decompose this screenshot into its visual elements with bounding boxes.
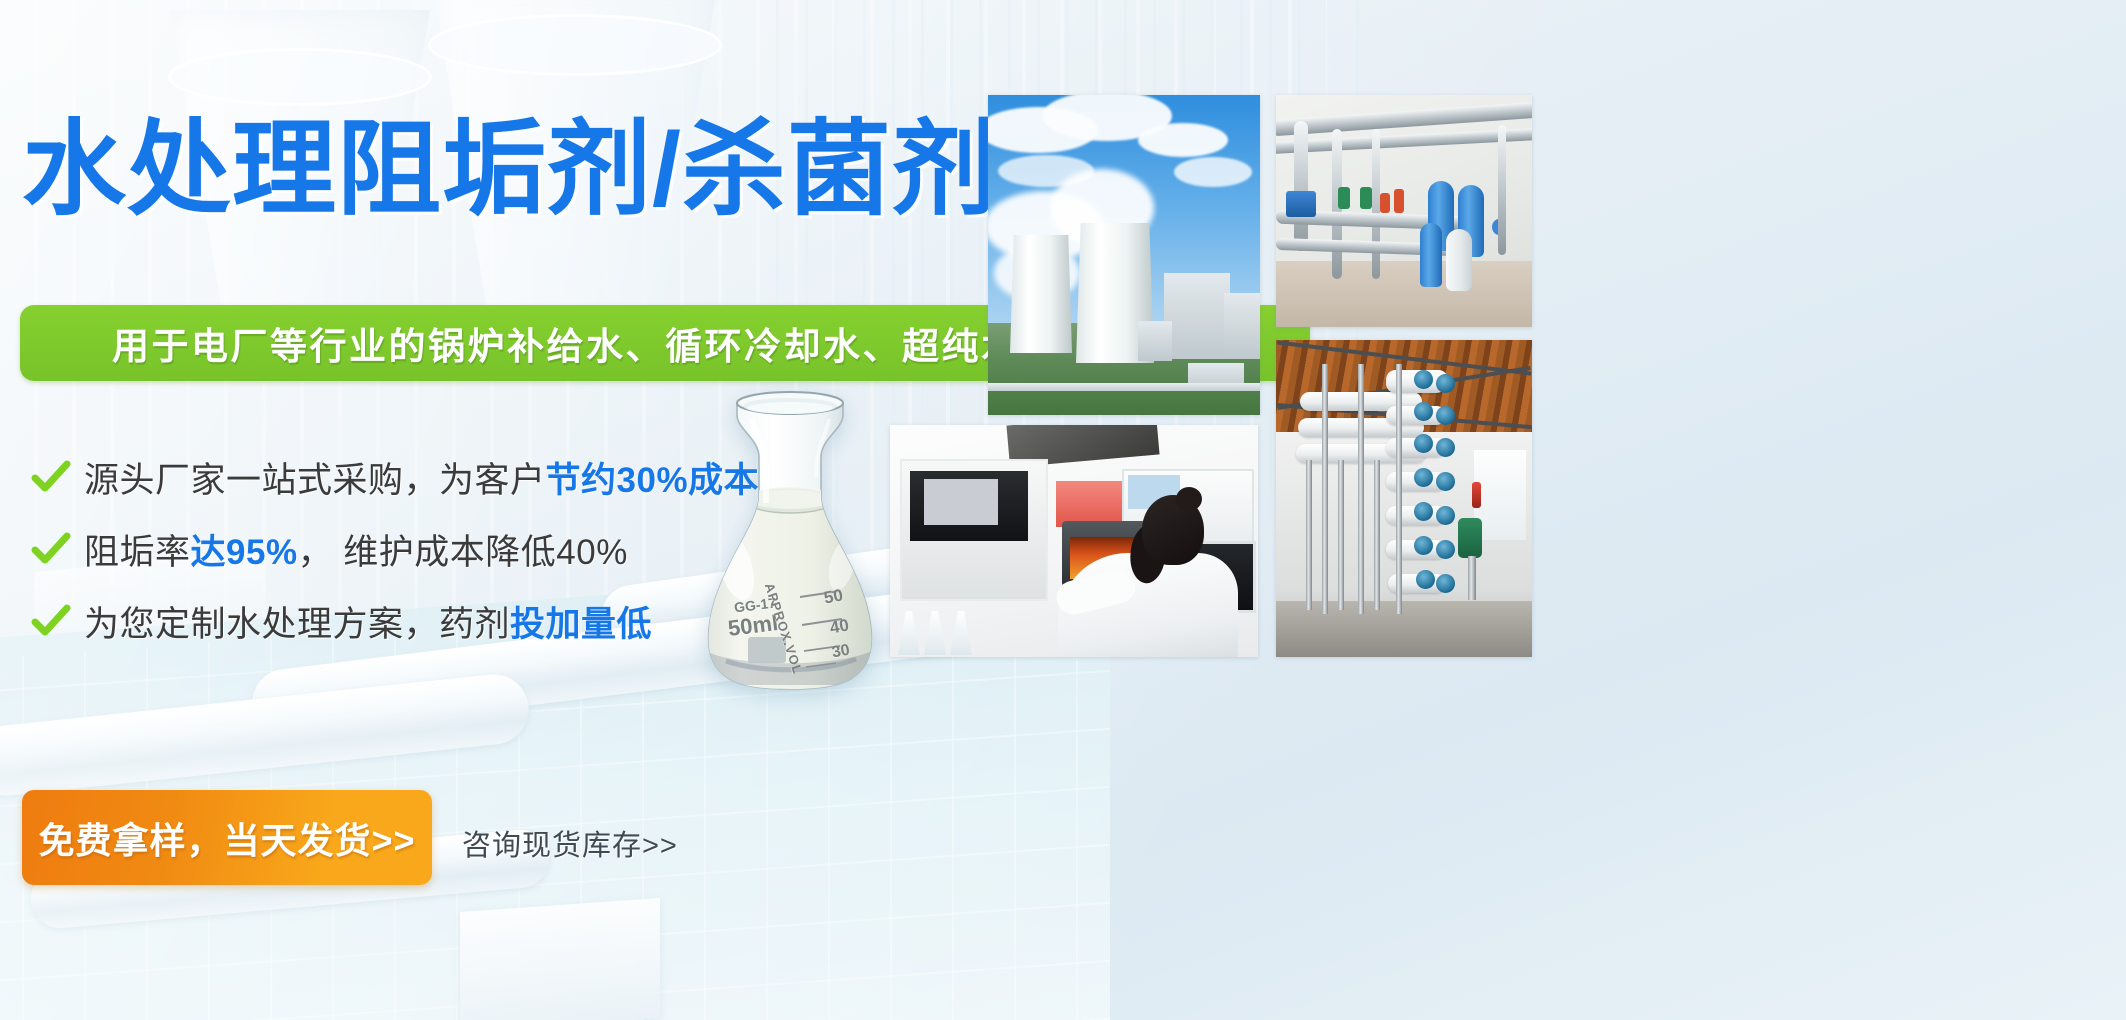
benefit-text-after: ， 维护成本降低40% — [298, 533, 628, 572]
list-item: 源头厂家一站式采购，为客户节约30%成本 — [30, 455, 759, 499]
furnace-flame-glow — [1070, 537, 1136, 579]
background-pipe-1 — [0, 671, 532, 799]
check-icon — [30, 600, 72, 642]
background-cooling-tower-left-rim — [168, 48, 432, 106]
warehouse-window — [1474, 450, 1526, 540]
lab-flask — [898, 611, 920, 655]
blue-pressure-tank — [1428, 181, 1454, 251]
membrane-vessel — [1296, 444, 1426, 463]
plant-building — [1224, 293, 1260, 359]
benefit-highlight: 投加量低 — [510, 605, 652, 644]
lab-flask — [924, 611, 946, 655]
benefit-text-before: 阻垢率 — [84, 533, 191, 572]
red-equipment-box — [1056, 481, 1134, 527]
vertical-pipe — [1294, 121, 1308, 251]
red-valve — [1394, 189, 1404, 213]
ceiling-pipe — [1276, 128, 1532, 154]
riser-pipe — [1338, 460, 1344, 610]
plant-building — [1188, 363, 1244, 391]
membrane-vessel — [1388, 574, 1446, 593]
lab-flask — [950, 611, 972, 655]
plant-building — [1138, 321, 1172, 361]
flask-graduation-30: 30 — [831, 642, 852, 663]
room-wall — [1276, 95, 1532, 327]
instrument-label — [924, 479, 998, 525]
cloud — [1042, 95, 1172, 141]
vessel-end-cap — [1414, 370, 1433, 389]
roof-beam — [1277, 366, 1530, 410]
blue-pressure-tank — [1458, 185, 1484, 257]
benefit-text: 阻垢率达95%， 维护成本降低40% — [84, 524, 628, 575]
membrane-vessel — [1298, 418, 1424, 437]
vessel-end-cap — [1414, 402, 1433, 421]
photo-water-treatment-pipe-room[interactable] — [1276, 95, 1532, 327]
cloud — [998, 155, 1094, 187]
riser-pipe — [1396, 364, 1402, 614]
free-sample-button[interactable]: 免费拿样，当天发货>> — [22, 790, 432, 885]
warehouse-floor — [1276, 601, 1532, 657]
membrane-vessel — [1386, 540, 1446, 559]
benefit-text-before: 为您定制水处理方案，药剂 — [84, 605, 510, 644]
vertical-pipe — [1332, 129, 1342, 279]
steam-plume — [988, 191, 1104, 261]
list-item: 阻垢率达95%， 维护成本降低40% — [30, 527, 759, 571]
benefit-text: 为您定制水处理方案，药剂投加量低 — [84, 596, 652, 647]
wooden-roof — [1276, 340, 1532, 432]
graphite-furnace — [1062, 521, 1146, 587]
lab-cabinet — [1122, 469, 1254, 563]
membrane-vessel — [1386, 438, 1446, 457]
green-valve — [1338, 187, 1350, 209]
fume-hood-duct — [1006, 425, 1159, 467]
pump-shaft — [1468, 556, 1476, 600]
blue-softener-tank — [1420, 223, 1442, 287]
vessel-end-cap — [1414, 502, 1433, 521]
green-valve — [1360, 187, 1372, 209]
cabinet-blue-panel — [1128, 475, 1180, 509]
vessel-end-cap — [1436, 506, 1455, 525]
benefit-text: 源头厂家一站式采购，为客户节约30%成本 — [84, 452, 759, 503]
membrane-vessel — [1300, 392, 1422, 411]
technician-hair-tie — [1176, 487, 1202, 511]
white-brine-tank — [1446, 229, 1472, 291]
flask-rack — [896, 601, 992, 655]
computer-monitor — [1190, 541, 1256, 613]
membrane-vessel — [1386, 506, 1446, 525]
membrane-vessel — [1386, 374, 1446, 393]
room-floor — [1276, 261, 1532, 327]
vessel-end-cap — [1414, 434, 1433, 453]
red-valve — [1380, 193, 1390, 213]
ceiling-pipe — [1276, 102, 1532, 137]
hero-banner: 水处理阻垢剂/杀菌剂供应 用于电厂等行业的锅炉补给水、循环冷却水、超纯水处理化学… — [0, 0, 2126, 1020]
bridge — [988, 383, 1260, 391]
technician-arm — [1053, 566, 1139, 618]
photo-laboratory-technician[interactable] — [890, 425, 1258, 657]
vessel-end-cap — [1414, 468, 1433, 487]
horizontal-pipe — [1276, 238, 1456, 256]
steam-plume — [1050, 169, 1154, 247]
technician-lab-coat — [1058, 553, 1238, 657]
ground — [988, 323, 1260, 415]
steam-plume — [994, 245, 1080, 301]
riser-pipe — [1358, 364, 1364, 614]
analyzer-cavity — [910, 471, 1028, 541]
check-icon — [30, 456, 72, 498]
photo-power-plant-cooling-towers[interactable] — [988, 95, 1260, 415]
roof-beam — [1277, 340, 1532, 375]
flask-graduation-40: 40 — [828, 616, 850, 639]
cloud — [1174, 157, 1252, 187]
membrane-vessel — [1386, 370, 1448, 389]
vessel-end-cap — [1416, 570, 1435, 589]
technician-ponytail — [1124, 522, 1173, 587]
flask-graduation-50: 50 — [822, 586, 844, 609]
feed-pump — [1458, 518, 1482, 558]
warehouse-wall — [1276, 432, 1532, 657]
fire-extinguisher — [1472, 482, 1481, 508]
cooling-tower — [1010, 235, 1072, 353]
benefit-text-before: 源头厂家一站式采购，为客户 — [84, 461, 546, 500]
roof-beam — [1276, 403, 1531, 429]
vessel-end-cap — [1436, 438, 1455, 457]
membrane-vessel — [1386, 406, 1446, 425]
cloud — [1138, 123, 1228, 157]
vertical-pipe — [1498, 125, 1506, 255]
vessel-end-cap — [1414, 536, 1433, 555]
riser-pipe — [1322, 364, 1328, 614]
cooling-tower — [1076, 223, 1154, 363]
sky — [988, 95, 1260, 415]
background-cooling-tower-right-rim — [428, 14, 722, 76]
vessel-end-cap — [1436, 472, 1455, 491]
vertical-pipe — [1372, 129, 1380, 279]
list-item: 为您定制水处理方案，药剂投加量低 — [30, 599, 759, 643]
horizontal-pipe — [1276, 210, 1466, 231]
check-icon — [30, 528, 72, 570]
membrane-vessel — [1386, 472, 1446, 491]
lab-background — [890, 425, 1258, 657]
vessel-end-cap — [1436, 374, 1455, 393]
technician-head — [1142, 495, 1204, 565]
page-title-blue: 水处理阻垢剂/杀菌剂 — [22, 112, 997, 228]
riser-pipe — [1374, 460, 1380, 610]
benefit-list: 源头厂家一站式采购，为客户节约30%成本 阻垢率达95%， 维护成本降低40% … — [30, 455, 759, 671]
erlenmeyer-flask-product: GG-17 50ml APPROX.VOL 50 40 30 — [690, 385, 890, 695]
stock-inquiry-link[interactable]: 咨询现货库存>> — [462, 822, 678, 864]
photo-reverse-osmosis-system[interactable] — [1276, 340, 1532, 657]
plant-building — [1164, 273, 1230, 359]
benefit-highlight: 达95% — [191, 533, 298, 572]
analyzer-instrument — [900, 459, 1048, 601]
vessel-end-cap — [1436, 540, 1455, 559]
vessel-end-cap — [1436, 574, 1455, 593]
background-equipment-box-lower — [460, 898, 660, 1020]
vessel-end-cap — [1436, 406, 1455, 425]
expansion-vessel — [1492, 219, 1506, 235]
free-sample-button-label: 免费拿样，当天发货>> — [38, 812, 415, 864]
riser-pipe — [1306, 460, 1312, 610]
cloud — [988, 107, 1098, 153]
blue-valve — [1286, 191, 1316, 217]
